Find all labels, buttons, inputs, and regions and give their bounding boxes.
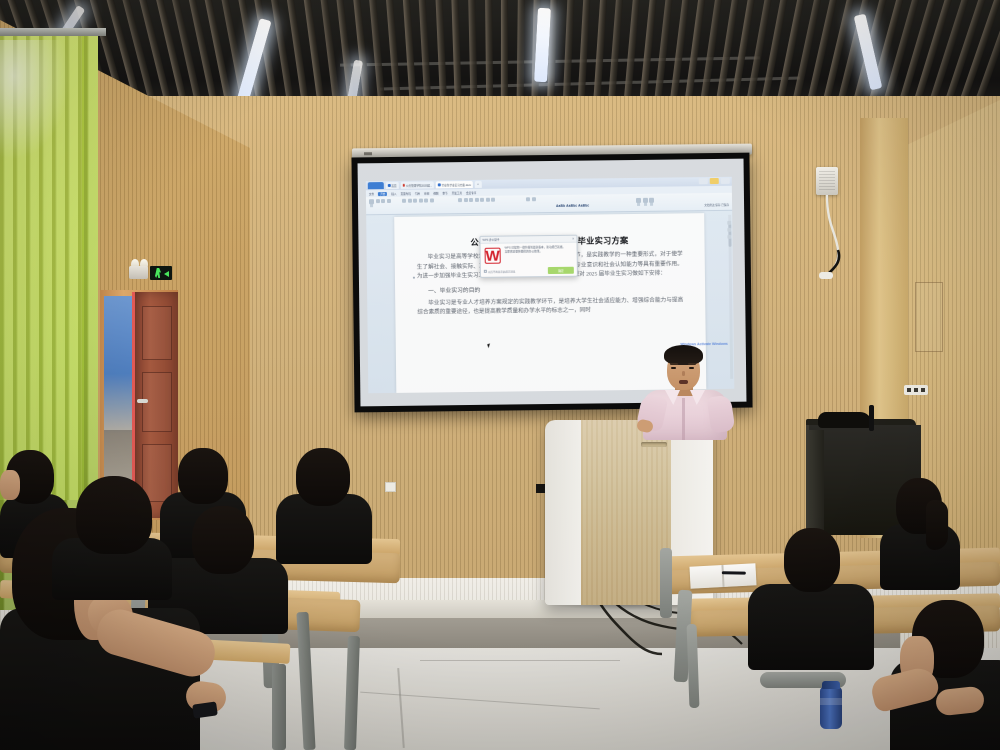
bottle-label bbox=[820, 698, 842, 705]
student bbox=[748, 528, 874, 668]
seat-leg bbox=[272, 664, 286, 750]
podium-handle bbox=[641, 442, 667, 447]
bottle-cap bbox=[822, 681, 840, 689]
student-head bbox=[296, 448, 350, 506]
presenter-eyebrow bbox=[670, 363, 678, 365]
student-head bbox=[76, 476, 152, 554]
blue-water-bottle[interactable] bbox=[820, 687, 842, 729]
student bbox=[880, 478, 960, 588]
student bbox=[52, 476, 172, 596]
podium-left-panel bbox=[545, 420, 585, 605]
presenter-shirt-placket bbox=[682, 398, 685, 440]
student-head bbox=[784, 528, 840, 592]
pen[interactable] bbox=[722, 571, 746, 574]
student-head bbox=[178, 448, 228, 504]
notebook-spine bbox=[721, 565, 724, 587]
open-notebook bbox=[689, 563, 756, 588]
presenter-hair bbox=[664, 345, 703, 365]
seat-frame bbox=[660, 548, 672, 618]
presenter-right-arm bbox=[707, 395, 736, 434]
student-ponytail bbox=[926, 500, 948, 550]
lecture-hall-photo: 首页 公共管理学院2025届... 毕业生毕业实习方案.docx + bbox=[0, 0, 1000, 750]
student bbox=[276, 448, 372, 560]
presenter-eyebrow bbox=[688, 363, 696, 365]
student-torso bbox=[748, 584, 874, 670]
student-face bbox=[0, 470, 20, 500]
presenter bbox=[637, 344, 733, 436]
presenter-nose bbox=[682, 371, 685, 376]
presenter-mouth bbox=[679, 380, 688, 384]
